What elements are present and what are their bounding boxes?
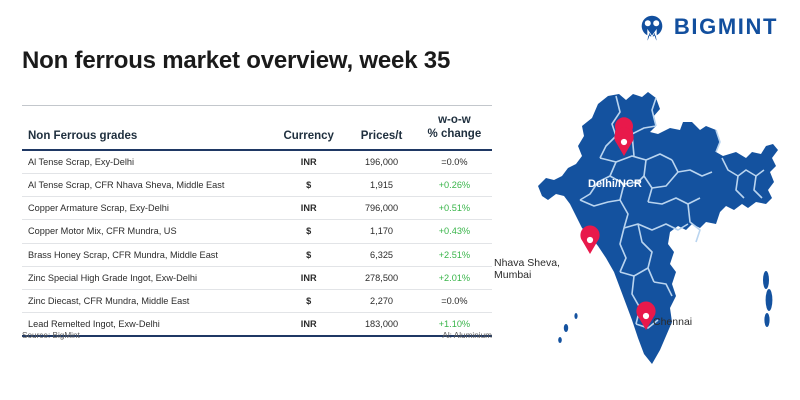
cell-grade: Brass Honey Scrap, CFR Mundra, Middle Ea… [22, 243, 271, 266]
column-header-price: Prices/t [346, 106, 417, 150]
table-row: Zinc Special High Grade Ingot, Exw-Delhi… [22, 266, 492, 289]
cell-grade: Al Tense Scrap, CFR Nhava Sheva, Middle … [22, 173, 271, 196]
cell-currency: $ [271, 173, 346, 196]
table-row: Copper Motor Mix, CFR Mundra, US$1,170+0… [22, 220, 492, 243]
map-pin-nhava-sheva-mumbai[interactable] [580, 226, 599, 254]
cell-grade: Zinc Special High Grade Ingot, Exw-Delhi [22, 266, 271, 289]
cell-price: 1,170 [346, 220, 417, 243]
column-header-change: w-o-w % change [417, 106, 492, 150]
map-label-delhi: Delhi/NCR [588, 178, 642, 191]
cell-price: 6,325 [346, 243, 417, 266]
table-row: Al Tense Scrap, Exy-DelhiINR196,000=0.0% [22, 150, 492, 174]
table-row: Copper Armature Scrap, Exy-DelhiINR796,0… [22, 197, 492, 220]
bigmint-logo-icon [637, 12, 667, 42]
column-header-change-line2: % change [428, 128, 482, 140]
cell-currency: $ [271, 243, 346, 266]
table-row: Al Tense Scrap, CFR Nhava Sheva, Middle … [22, 173, 492, 196]
cell-price: 1,915 [346, 173, 417, 196]
cell-grade: Copper Motor Mix, CFR Mundra, US [22, 220, 271, 243]
cell-wow-change: +2.51% [417, 243, 492, 266]
table-body: Al Tense Scrap, Exy-DelhiINR196,000=0.0%… [22, 150, 492, 337]
cell-grade: Zinc Diecast, CFR Mundra, Middle East [22, 289, 271, 312]
map-label-chennai: Chennai [653, 316, 692, 328]
cell-price: 2,270 [346, 289, 417, 312]
brand-logo: BIGMINT [637, 12, 778, 42]
cell-wow-change: =0.0% [417, 289, 492, 312]
source-note: Source: BigMint [22, 331, 80, 340]
cell-currency: INR [271, 150, 346, 174]
cell-currency: INR [271, 266, 346, 289]
cell-price: 796,000 [346, 197, 417, 220]
column-header-change-line1: w-o-w [438, 114, 471, 126]
column-header-currency: Currency [271, 106, 346, 150]
cell-price: 196,000 [346, 150, 417, 174]
table-header: Non Ferrous grades Currency Prices/t w-o… [22, 106, 492, 150]
cell-currency: $ [271, 220, 346, 243]
price-table-container: Non Ferrous grades Currency Prices/t w-o… [22, 105, 492, 337]
cell-wow-change: +0.26% [417, 173, 492, 196]
map-label-nhava-sheva-mumbai: Nhava Sheva, Mumbai [494, 257, 560, 282]
india-map-svg [520, 72, 800, 400]
india-map-panel: Delhi/NCR Nhava Sheva, Mumbai Chennai [520, 72, 800, 400]
cell-currency: $ [271, 289, 346, 312]
table-row: Zinc Diecast, CFR Mundra, Middle East$2,… [22, 289, 492, 312]
cell-wow-change: =0.0% [417, 150, 492, 174]
brand-wordmark: BIGMINT [674, 16, 778, 38]
cell-price: 278,500 [346, 266, 417, 289]
page-title: Non ferrous market overview, week 35 [22, 47, 450, 75]
cell-wow-change: +0.51% [417, 197, 492, 220]
abbreviation-note: Al: Aluminium [442, 331, 492, 340]
cell-wow-change: +2.01% [417, 266, 492, 289]
cell-grade: Copper Armature Scrap, Exy-Delhi [22, 197, 271, 220]
table-footnotes: Source: BigMint Al: Aluminium [22, 331, 492, 340]
cell-grade: Al Tense Scrap, Exy-Delhi [22, 150, 271, 174]
table-row: Brass Honey Scrap, CFR Mundra, Middle Ea… [22, 243, 492, 266]
column-header-grade: Non Ferrous grades [22, 106, 271, 150]
cell-currency: INR [271, 197, 346, 220]
cell-wow-change: +0.43% [417, 220, 492, 243]
price-table: Non Ferrous grades Currency Prices/t w-o… [22, 105, 492, 337]
